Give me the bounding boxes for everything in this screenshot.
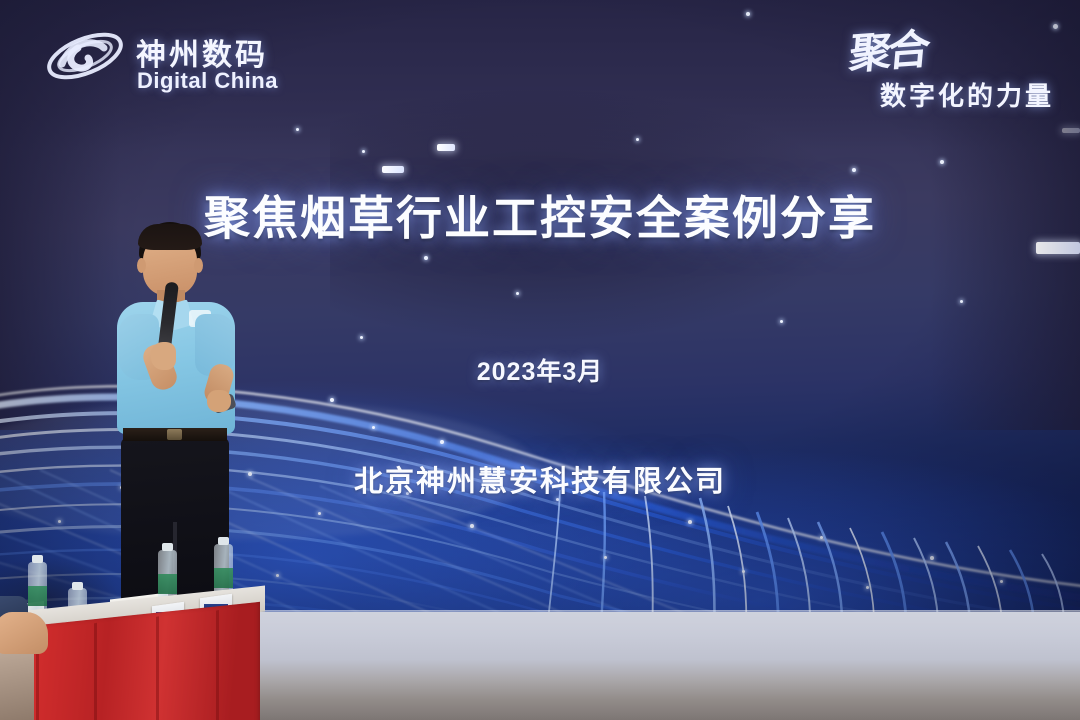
speaker-hand-right (207, 390, 231, 412)
bottle-cap (162, 543, 173, 551)
brush-calligraphy-text: 聚合 (847, 15, 929, 81)
attendee-hand (0, 612, 48, 654)
bottle-label (158, 574, 177, 594)
speaker-ear-right (194, 258, 203, 273)
logo-english-name: Digital China (137, 68, 278, 94)
juhe-campaign-logo: 聚合 数字化的力量 (808, 14, 1058, 110)
digital-china-logo: 神州数码 Digital China (44, 16, 314, 100)
campaign-slogan: 数字化的力量 (880, 76, 1054, 113)
bottle-label (214, 568, 233, 588)
swirl-logo-icon (44, 24, 126, 88)
bottle-cap (218, 537, 229, 545)
bottle-label (28, 586, 47, 606)
speaker-hair-front (138, 224, 202, 250)
speaker-hand-left (151, 342, 176, 370)
speaker-ear-left (137, 258, 146, 273)
bottle-cap (32, 555, 43, 563)
speaker-belt-buckle (167, 429, 182, 440)
conference-stage-photo: 神州数码 Digital China 聚合 数字化的力量 聚焦烟草行业工控安全案… (0, 0, 1080, 720)
bottle-cap (72, 582, 83, 590)
